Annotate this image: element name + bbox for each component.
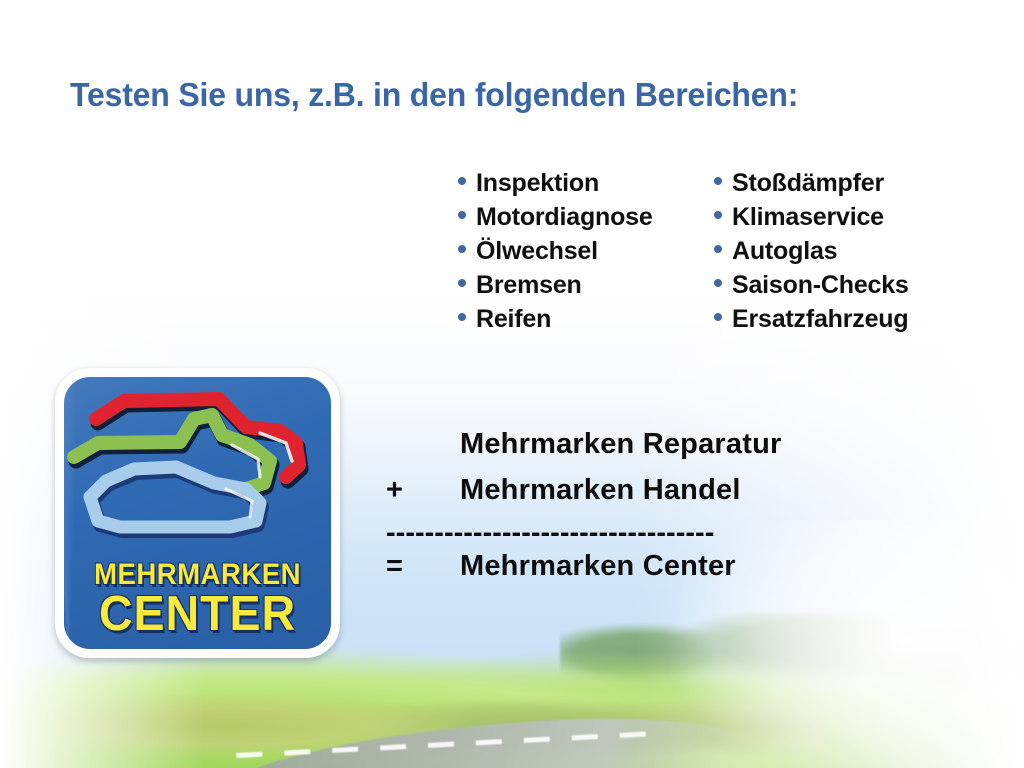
logo-panel: MEHRMARKEN CENTER bbox=[64, 377, 331, 649]
services-lists: Inspektion Motordiagnose Ölwechsel Brems… bbox=[458, 166, 974, 336]
list-item-label: Motordiagnose bbox=[476, 200, 653, 234]
logo-car-silhouettes bbox=[64, 385, 331, 545]
bullet-dot-icon bbox=[458, 313, 466, 321]
equation-divider-rule: ---------------------------------- bbox=[386, 522, 906, 544]
page-title: Testen Sie uns, z.B. in den folgenden Be… bbox=[70, 76, 798, 114]
bullet-dot-icon bbox=[458, 211, 466, 219]
bullet-dot-icon bbox=[714, 211, 722, 219]
slide-canvas: Testen Sie uns, z.B. in den folgenden Be… bbox=[0, 0, 1024, 768]
list-item-label: Autoglas bbox=[732, 234, 837, 268]
bullet-dot-icon bbox=[714, 245, 722, 253]
list-item-label: Bremsen bbox=[476, 268, 582, 302]
equation-term: Mehrmarken Handel bbox=[460, 474, 741, 507]
list-item-label: Reifen bbox=[476, 302, 551, 336]
list-item-label: Ersatzfahrzeug bbox=[732, 302, 908, 336]
list-item-label: Inspektion bbox=[476, 166, 599, 200]
list-item-label: Stoßdämpfer bbox=[732, 166, 884, 200]
list-item: Ersatzfahrzeug bbox=[714, 302, 974, 336]
list-item: Bremsen bbox=[458, 268, 714, 302]
list-item: Autoglas bbox=[714, 234, 974, 268]
equation-row-result: = Mehrmarken Center bbox=[386, 550, 906, 596]
bullet-dot-icon bbox=[458, 279, 466, 287]
sedan-silhouette-icon bbox=[90, 467, 262, 531]
services-list-left: Inspektion Motordiagnose Ölwechsel Brems… bbox=[458, 166, 714, 336]
list-item-label: Saison-Checks bbox=[732, 268, 909, 302]
services-list-right: Stoßdämpfer Klimaservice Autoglas Saison… bbox=[714, 166, 974, 336]
bullet-dot-icon bbox=[714, 313, 722, 321]
list-item: Klimaservice bbox=[714, 200, 974, 234]
mehrmarken-center-logo: MEHRMARKEN CENTER bbox=[55, 368, 340, 658]
list-item: Stoßdämpfer bbox=[714, 166, 974, 200]
list-item: Motordiagnose bbox=[458, 200, 714, 234]
equation-term: Mehrmarken Reparatur bbox=[460, 428, 782, 461]
logo-word-center: CENTER bbox=[71, 586, 325, 642]
list-item-label: Klimaservice bbox=[732, 200, 884, 234]
bullet-dot-icon bbox=[458, 177, 466, 185]
bullet-dot-icon bbox=[458, 245, 466, 253]
bullet-dot-icon bbox=[714, 279, 722, 287]
bullet-dot-icon bbox=[714, 177, 722, 185]
equation-block: Mehrmarken Reparatur + Mehrmarken Handel… bbox=[386, 428, 906, 596]
equation-row-2: + Mehrmarken Handel bbox=[386, 474, 906, 520]
list-item-label: Ölwechsel bbox=[476, 234, 598, 268]
equation-operator: = bbox=[386, 550, 460, 583]
equation-result-term: Mehrmarken Center bbox=[460, 550, 736, 583]
equation-operator: + bbox=[386, 474, 460, 507]
list-item: Ölwechsel bbox=[458, 234, 714, 268]
list-item: Inspektion bbox=[458, 166, 714, 200]
equation-row-1: Mehrmarken Reparatur bbox=[386, 428, 906, 474]
list-item: Reifen bbox=[458, 302, 714, 336]
list-item: Saison-Checks bbox=[714, 268, 974, 302]
